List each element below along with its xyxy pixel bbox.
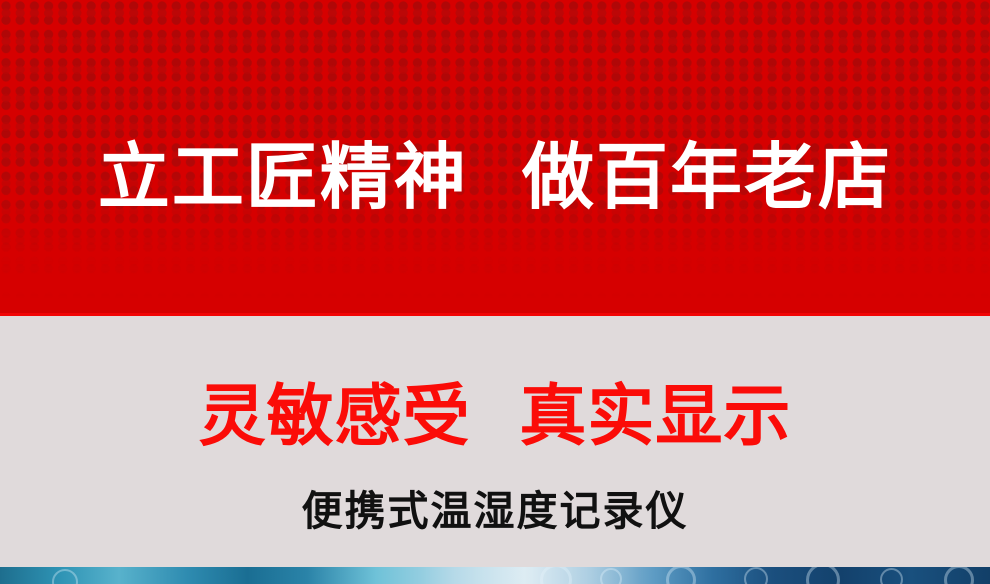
top-red-banner: 立工匠精神 做百年老店 [0,0,990,316]
photo-ring-shape [944,567,974,584]
photo-ring-shape [52,569,78,584]
photo-ring-shape [744,567,768,584]
photo-ring-shape [806,567,840,584]
middle-section: 灵敏感受 真实显示 便携式温湿度记录仪 [0,316,990,567]
product-subtitle: 便携式温湿度记录仪 [0,487,990,535]
photo-ring-shape [666,567,696,584]
photo-highlight-sheen [420,567,640,584]
bottom-photo-strip [0,567,990,584]
promo-poster: 立工匠精神 做百年老店 灵敏感受 真实显示 便携式温湿度记录仪 [0,0,990,584]
product-slogan: 灵敏感受 真实显示 [0,378,990,454]
banner-headline: 立工匠精神 做百年老店 [0,139,990,215]
photo-ring-shape [880,568,903,584]
